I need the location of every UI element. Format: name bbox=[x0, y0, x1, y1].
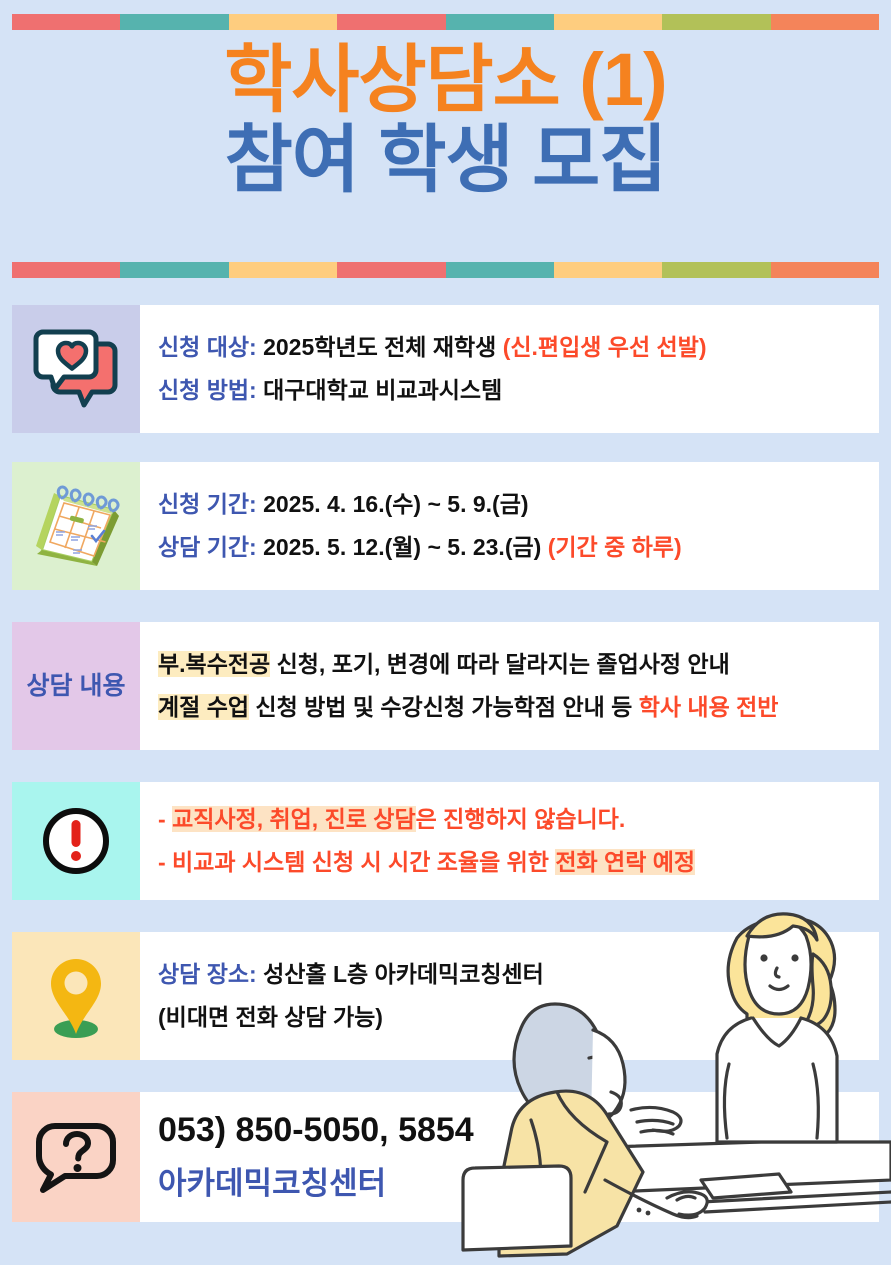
contact-department: 아카데믹코칭센터 bbox=[158, 1158, 869, 1203]
desk-calendar-icon bbox=[26, 480, 126, 572]
contact-phone: 053) 850-5050, 5854 bbox=[158, 1111, 869, 1150]
card-application-line-1: 신청 대상: 2025학년도 전체 재학생 (신.편입생 우선 선발) bbox=[158, 333, 869, 362]
question-bubble-icon bbox=[33, 1116, 119, 1198]
card-place-line-1: 상담 장소: 성산홀 L층 아카데믹코칭센터 bbox=[158, 960, 869, 989]
card-notice-body: - 교직사정, 취업, 진로 상담은 진행하지 않습니다. - 비교과 시스템 … bbox=[140, 782, 879, 900]
color-rule-bottom bbox=[12, 262, 879, 278]
color-rule-segment bbox=[12, 262, 120, 278]
color-rule-segment bbox=[337, 262, 445, 278]
card-notice: - 교직사정, 취업, 진로 상담은 진행하지 않습니다. - 비교과 시스템 … bbox=[12, 782, 879, 900]
desk-calendar-icon-cell bbox=[12, 462, 140, 590]
title-line-1: 학사상담소 (1) bbox=[0, 40, 891, 120]
color-rule-segment bbox=[662, 262, 770, 278]
color-rule-segment bbox=[120, 14, 228, 30]
card-place-line-2: (비대면 전화 상담 가능) bbox=[158, 1003, 869, 1032]
color-rule-segment bbox=[554, 14, 662, 30]
card-place: 상담 장소: 성산홀 L층 아카데믹코칭센터 (비대면 전화 상담 가능) bbox=[12, 932, 879, 1060]
card-counseling-line-2: 계절 수업 신청 방법 및 수강신청 가능학점 안내 등 학사 내용 전반 bbox=[158, 693, 869, 722]
card-place-body: 상담 장소: 성산홀 L층 아카데믹코칭센터 (비대면 전화 상담 가능) bbox=[140, 932, 879, 1060]
color-rule-segment bbox=[337, 14, 445, 30]
card-counseling-content: 상담 내용 부.복수전공 신청, 포기, 변경에 따라 달라지는 졸업사정 안내… bbox=[12, 622, 879, 750]
chat-heart-icon bbox=[30, 326, 122, 412]
color-rule-top bbox=[12, 14, 879, 30]
page-title: 학사상담소 (1) 참여 학생 모집 bbox=[0, 40, 891, 200]
question-bubble-icon-cell bbox=[12, 1092, 140, 1222]
card-counseling-content-body: 부.복수전공 신청, 포기, 변경에 따라 달라지는 졸업사정 안내 계절 수업… bbox=[140, 622, 879, 750]
exclamation-circle-icon-cell bbox=[12, 782, 140, 900]
color-rule-segment bbox=[771, 262, 879, 278]
color-rule-segment bbox=[446, 14, 554, 30]
card-notice-line-2: - 비교과 시스템 신청 시 시간 조율을 위한 전화 연락 예정 bbox=[158, 848, 869, 877]
title-line-2: 참여 학생 모집 bbox=[0, 120, 891, 200]
card-application: 신청 대상: 2025학년도 전체 재학생 (신.편입생 우선 선발) 신청 방… bbox=[12, 305, 879, 433]
section-label-counseling: 상담 내용 bbox=[12, 622, 140, 750]
color-rule-segment bbox=[446, 262, 554, 278]
exclamation-circle-icon bbox=[39, 804, 113, 878]
color-rule-segment bbox=[554, 262, 662, 278]
color-rule-segment bbox=[662, 14, 770, 30]
poster-root: 학사상담소 (1) 참여 학생 모집 신청 대상: 2025학년도 전체 재학생… bbox=[0, 0, 891, 1260]
card-application-line-2: 신청 방법: 대구대학교 비교과시스템 bbox=[158, 376, 869, 405]
card-period-line-1: 신청 기간: 2025. 4. 16.(수) ~ 5. 9.(금) bbox=[158, 490, 869, 519]
card-notice-line-1: - 교직사정, 취업, 진로 상담은 진행하지 않습니다. bbox=[158, 805, 869, 834]
card-contact-body: 053) 850-5050, 5854 아카데믹코칭센터 bbox=[140, 1092, 879, 1222]
chat-heart-icon-cell bbox=[12, 305, 140, 433]
color-rule-segment bbox=[120, 262, 228, 278]
card-application-body: 신청 대상: 2025학년도 전체 재학생 (신.편입생 우선 선발) 신청 방… bbox=[140, 305, 879, 433]
card-period-line-2: 상담 기간: 2025. 5. 12.(월) ~ 5. 23.(금) (기간 중… bbox=[158, 533, 869, 562]
card-period: 신청 기간: 2025. 4. 16.(수) ~ 5. 9.(금) 상담 기간:… bbox=[12, 462, 879, 590]
card-period-body: 신청 기간: 2025. 4. 16.(수) ~ 5. 9.(금) 상담 기간:… bbox=[140, 462, 879, 590]
map-pin-icon bbox=[39, 951, 113, 1041]
map-pin-icon-cell bbox=[12, 932, 140, 1060]
card-counseling-line-1: 부.복수전공 신청, 포기, 변경에 따라 달라지는 졸업사정 안내 bbox=[158, 650, 869, 679]
color-rule-segment bbox=[771, 14, 879, 30]
color-rule-segment bbox=[229, 14, 337, 30]
color-rule-segment bbox=[12, 14, 120, 30]
card-contact: 053) 850-5050, 5854 아카데믹코칭센터 bbox=[12, 1092, 879, 1222]
color-rule-segment bbox=[229, 262, 337, 278]
